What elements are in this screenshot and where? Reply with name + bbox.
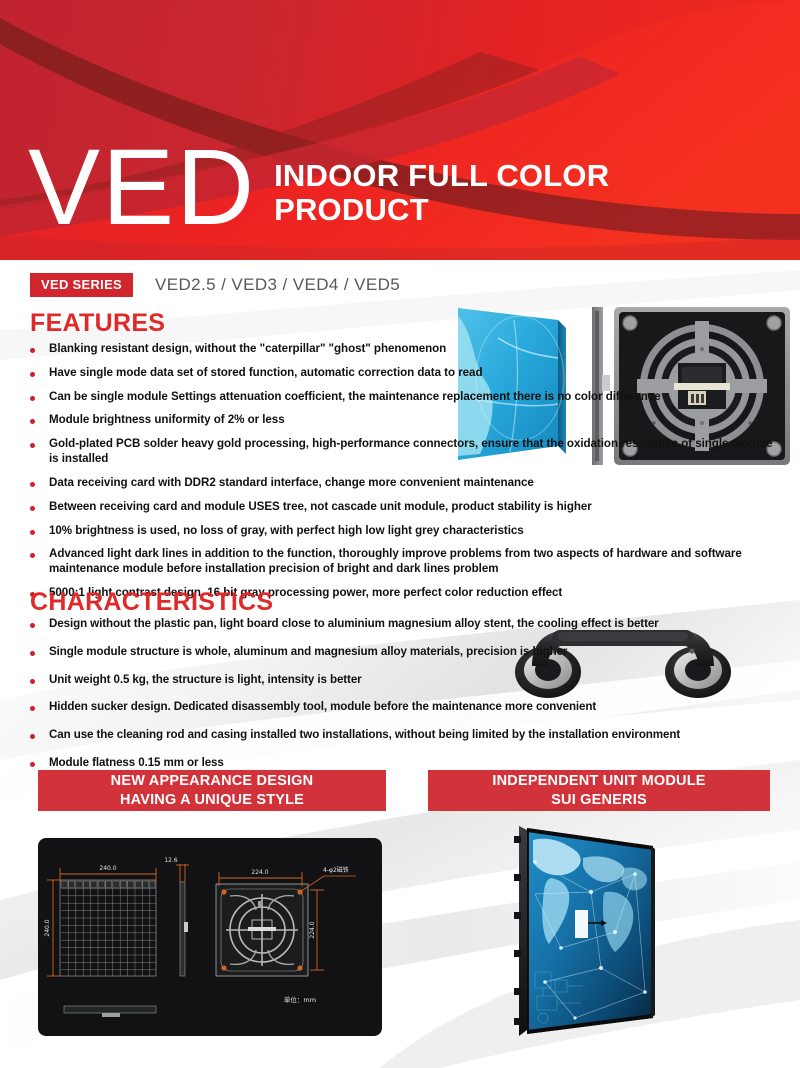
features-list: Blanking resistant design, without the "… <box>30 342 778 610</box>
drawing-back-view <box>216 884 308 976</box>
characteristic-text: Design without the plastic pan, light bo… <box>49 617 659 632</box>
list-item: Single module structure is whole, alumin… <box>30 645 778 660</box>
list-item: Have single mode data set of stored func… <box>30 366 778 381</box>
characteristics-section-title: CHARACTERISTICS <box>30 588 273 617</box>
unit-annotation: 单位：mm <box>284 995 316 1004</box>
bullet-dot-icon <box>30 443 35 448</box>
list-item: Gold-plated PCB solder heavy gold proces… <box>30 437 778 467</box>
banner-right-line-2: SUI GENERIS <box>551 791 647 809</box>
feature-text: Module brightness uniformity of 2% or le… <box>49 413 285 428</box>
bullet-dot-icon <box>30 651 35 656</box>
bullet-dot-icon <box>30 419 35 424</box>
list-item: Can use the cleaning rod and casing inst… <box>30 728 778 743</box>
list-item: Data receiving card with DDR2 standard i… <box>30 476 778 491</box>
bullet-dot-icon <box>30 679 35 684</box>
technical-drawing-panel: 240.0 240.0 12.6 <box>38 838 382 1036</box>
header-subtitle: INDOOR FULL COLOR PRODUCT <box>274 159 609 226</box>
list-item: Design without the plastic pan, light bo… <box>30 617 778 632</box>
bullet-dot-icon <box>30 623 35 628</box>
header-banner: VED INDOOR FULL COLOR PRODUCT <box>0 0 800 260</box>
list-item: 10% brightness is used, no loss of gray,… <box>30 524 778 539</box>
characteristics-list: Design without the plastic pan, light bo… <box>30 617 778 784</box>
dim-label-width-back: 224.0 <box>251 869 268 876</box>
header-subtitle-line-2: PRODUCT <box>274 193 609 226</box>
feature-text: Data receiving card with DDR2 standard i… <box>49 476 534 491</box>
feature-text: Blanking resistant design, without the "… <box>49 342 446 357</box>
list-item: Module brightness uniformity of 2% or le… <box>30 413 778 428</box>
banner-right-line-1: INDEPENDENT UNIT MODULE <box>492 772 705 790</box>
characteristic-text: Unit weight 0.5 kg, the structure is lig… <box>49 673 362 688</box>
banner-left-line-1: NEW APPEARANCE DESIGN <box>111 772 314 790</box>
feature-text: Can be single module Settings attenuatio… <box>49 390 661 405</box>
bullet-dot-icon <box>30 396 35 401</box>
characteristic-text: Can use the cleaning rod and casing inst… <box>49 728 680 743</box>
series-model-list: VED2.5 / VED3 / VED4 / VED5 <box>155 275 400 295</box>
series-badge: VED SERIES <box>30 273 133 297</box>
bullet-dot-icon <box>30 706 35 711</box>
bullet-dot-icon <box>30 734 35 739</box>
list-item: Module flatness 0.15 mm or less <box>30 756 778 771</box>
dim-label-height-front: 240.0 <box>44 919 51 936</box>
feature-text: Have single mode data set of stored func… <box>49 366 482 381</box>
banner-new-appearance-design: NEW APPEARANCE DESIGN HAVING A UNIQUE ST… <box>38 770 386 811</box>
list-item: Advanced light dark lines in addition to… <box>30 547 778 577</box>
banner-independent-unit-module: INDEPENDENT UNIT MODULE SUI GENERIS <box>428 770 770 811</box>
dim-label-thickness: 12.6 <box>164 857 178 864</box>
brand-name: VED <box>28 141 256 234</box>
features-section-title: FEATURES <box>30 309 165 338</box>
list-item: Unit weight 0.5 kg, the structure is lig… <box>30 673 778 688</box>
bullet-dot-icon <box>30 553 35 558</box>
header-subtitle-line-1: INDOOR FULL COLOR <box>274 159 609 192</box>
bullet-dot-icon <box>30 482 35 487</box>
bullet-dot-icon <box>30 506 35 511</box>
list-item: Blanking resistant design, without the "… <box>30 342 778 357</box>
dim-label-width-front: 240.0 <box>99 865 116 872</box>
bullet-dot-icon <box>30 762 35 767</box>
feature-text: Advanced light dark lines in addition to… <box>49 547 778 577</box>
feature-text: 10% brightness is used, no loss of gray,… <box>49 524 524 539</box>
bullet-dot-icon <box>30 530 35 535</box>
brochure-page: VED INDOOR FULL COLOR PRODUCT VED SERIES… <box>0 0 800 1068</box>
series-row: VED SERIES VED2.5 / VED3 / VED4 / VED5 <box>30 273 400 297</box>
feature-text: Gold-plated PCB solder heavy gold proces… <box>49 437 778 467</box>
feature-text: Between receiving card and module USES t… <box>49 500 592 515</box>
list-item: Between receiving card and module USES t… <box>30 500 778 515</box>
characteristic-text: Hidden sucker design. Dedicated disassem… <box>49 700 596 715</box>
bullet-dot-icon <box>30 372 35 377</box>
characteristic-text: Module flatness 0.15 mm or less <box>49 756 224 771</box>
characteristic-text: Single module structure is whole, alumin… <box>49 645 567 660</box>
dim-label-height-back: 224.0 <box>309 921 316 938</box>
led-wall-world-map-image <box>505 822 755 1044</box>
brand-lockup: VED INDOOR FULL COLOR PRODUCT <box>28 141 609 234</box>
banner-left-line-2: HAVING A UNIQUE STYLE <box>120 791 304 809</box>
list-item: Hidden sucker design. Dedicated disassem… <box>30 700 778 715</box>
list-item: Can be single module Settings attenuatio… <box>30 390 778 405</box>
bullet-dot-icon <box>30 348 35 353</box>
magnet-annotation: 4-φ2磁铁 <box>323 866 349 874</box>
